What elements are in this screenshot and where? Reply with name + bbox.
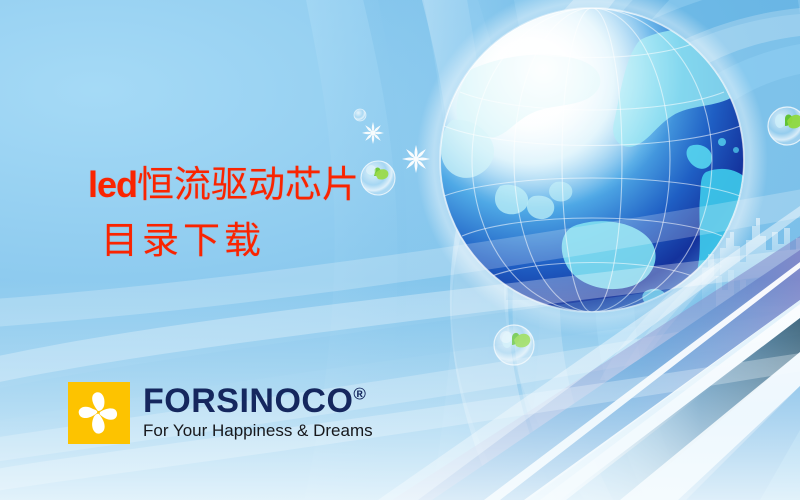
sparkle-starburst-large (402, 145, 430, 173)
bubble-with-sprout-right (768, 107, 800, 145)
sparkle-starburst-small (362, 122, 384, 144)
headline-line-2: 目录下载 (101, 222, 359, 259)
registered-trademark-symbol: ® (353, 385, 366, 404)
logo-wordmark: FORSINOCO® (143, 384, 373, 418)
logo-tagline: For Your Happiness & Dreams (143, 421, 373, 441)
headline-text: led恒流驱动芯片 目录下载 (88, 166, 359, 259)
promo-banner: led恒流驱动芯片 目录下载 FORSINOCO® For Your Happi… (0, 0, 800, 500)
headline-latin-word: led (88, 164, 137, 205)
bubble-with-sprout-top (361, 161, 395, 195)
bubble-small-top (354, 109, 366, 121)
pinwheel-flower-icon (68, 382, 130, 444)
headline-line-1: led恒流驱动芯片 (88, 166, 359, 203)
brand-logo: FORSINOCO® For Your Happiness & Dreams (68, 382, 373, 444)
logo-text-block: FORSINOCO® For Your Happiness & Dreams (143, 382, 373, 441)
logo-wordmark-text: FORSINOCO (143, 382, 353, 420)
headline-cjk-words: 恒流驱动芯片 (137, 163, 359, 206)
